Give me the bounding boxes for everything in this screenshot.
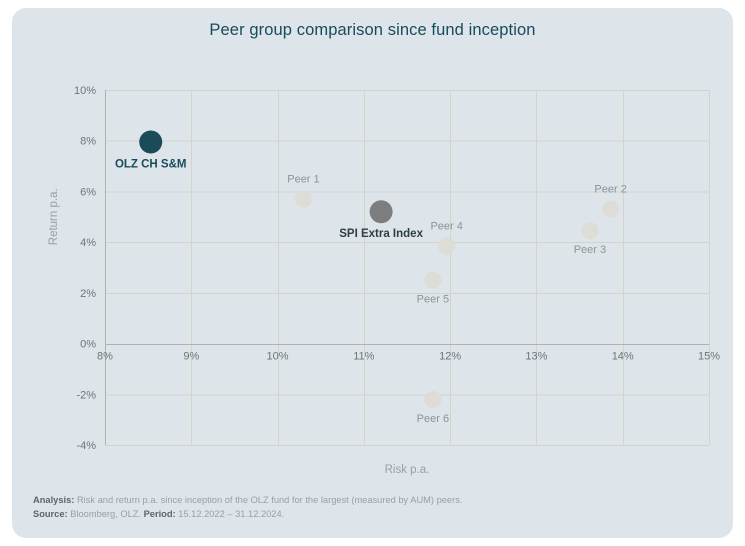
footer-source-label: Source: <box>33 509 68 519</box>
page-title: Peer group comparison since fund incepti… <box>12 21 733 40</box>
data-point[interactable] <box>295 191 312 208</box>
footer-source-line: Source: Bloomberg, OLZ. Period: 15.12.20… <box>33 508 713 522</box>
y-tick-label: 8% <box>80 136 96 148</box>
footer-analysis-line: Analysis: Risk and return p.a. since inc… <box>33 494 713 508</box>
y-tick-label: 10% <box>74 85 96 97</box>
data-point[interactable] <box>424 272 441 289</box>
y-tick-label: -2% <box>76 389 96 401</box>
data-point-label: Peer 5 <box>417 294 449 306</box>
y-axis-ticks: 10%8%6%4%2%0%-2%-4% <box>74 85 96 452</box>
y-tick-label: 6% <box>80 186 96 198</box>
y-tick-label: 2% <box>80 288 96 300</box>
x-tick-label: 9% <box>183 351 199 363</box>
x-tick-label: 15% <box>698 351 720 363</box>
data-point-label: Peer 4 <box>430 220 462 232</box>
x-tick-label: 14% <box>612 351 634 363</box>
data-points <box>139 130 619 407</box>
data-point-label: Peer 6 <box>417 413 449 425</box>
data-point[interactable] <box>424 391 441 408</box>
x-tick-label: 12% <box>439 351 461 363</box>
data-point-label: Peer 3 <box>574 244 606 256</box>
axis-lines <box>105 90 709 445</box>
x-tick-label: 13% <box>525 351 547 363</box>
footer-notes: Analysis: Risk and return p.a. since inc… <box>33 494 713 521</box>
data-point-label: SPI Extra Index <box>339 228 423 240</box>
y-tick-label: 4% <box>80 237 96 249</box>
footer-period-text: 15.12.2022 – 31.12.2024. <box>178 509 284 519</box>
data-point[interactable] <box>602 201 619 218</box>
x-tick-label: 8% <box>97 351 113 363</box>
data-point[interactable] <box>438 237 455 254</box>
data-point-label: Peer 2 <box>594 184 626 196</box>
data-point[interactable] <box>581 222 598 239</box>
x-tick-label: 11% <box>353 351 374 363</box>
data-point[interactable] <box>370 200 393 223</box>
data-point-label: OLZ CH S&M <box>115 158 187 170</box>
gridlines <box>105 90 710 446</box>
footer-analysis-text: Risk and return p.a. since inception of … <box>77 495 463 505</box>
scatter-plot: 10%8%6%4%2%0%-2%-4% 8%9%10%11%12%13%14%1… <box>93 70 721 460</box>
y-tick-label: -4% <box>76 440 96 452</box>
y-tick-label: 0% <box>80 339 96 351</box>
chart-card: Peer group comparison since fund incepti… <box>12 8 733 538</box>
x-axis-title: Risk p.a. <box>385 464 430 476</box>
chart-canvas: 10%8%6%4%2%0%-2%-4% 8%9%10%11%12%13%14%1… <box>93 70 721 460</box>
footer-period-label: Period: <box>144 509 176 519</box>
footer-source-text: Bloomberg, OLZ. <box>70 509 141 519</box>
data-point[interactable] <box>139 130 162 153</box>
footer-analysis-label: Analysis: <box>33 495 74 505</box>
data-point-label: Peer 1 <box>287 174 319 186</box>
x-axis-ticks: 8%9%10%11%12%13%14%15% <box>97 351 720 363</box>
x-tick-label: 10% <box>267 351 289 363</box>
y-axis-title: Return p.a. <box>48 188 60 245</box>
